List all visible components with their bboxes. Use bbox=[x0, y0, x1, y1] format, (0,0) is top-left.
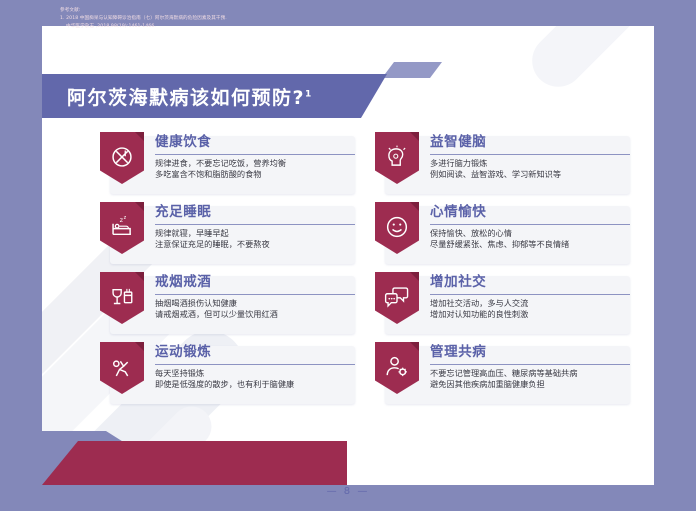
page-title-superscript: 1 bbox=[305, 89, 313, 99]
reference-heading: 参考文献: bbox=[60, 7, 227, 15]
prevention-card[interactable]: 运动锻炼 每天坚持锻炼 即使是低强度的散步，也有利于脑健康 bbox=[100, 340, 355, 408]
reference-line: 中华医学杂志 ,2018,98(19):1461-1466. bbox=[60, 23, 227, 31]
card-title: 健康饮食 bbox=[155, 135, 355, 155]
card-text: 管理共病 不要忘记管理高血压、糖尿病等基础共病 避免因其他疾病加重脑健康负担 bbox=[419, 340, 630, 391]
card-description-line: 每天坚持锻炼 bbox=[155, 368, 355, 380]
card-description-line: 多进行脑力锻炼 bbox=[430, 158, 630, 170]
card-description-line: 即使是低强度的散步，也有利于脑健康 bbox=[155, 379, 355, 391]
slide-page: 阿尔茨海默病该如何预防?1 健康饮食 规律进食，不要忘记吃饭，营养均衡 多吃富含… bbox=[0, 0, 696, 511]
page-title-label: 阿尔茨海默病该如何预防? bbox=[67, 87, 305, 109]
prevention-card[interactable]: 增加社交 增加社交活动，多与人交流 增加对认知功能的良性刺激 bbox=[375, 270, 630, 338]
page-number: — 8 — bbox=[0, 486, 696, 497]
card-description-line: 避免因其他疾病加重脑健康负担 bbox=[430, 379, 630, 391]
card-text: 运动锻炼 每天坚持锻炼 即使是低强度的散步，也有利于脑健康 bbox=[144, 340, 355, 391]
card-description: 每天坚持锻炼 即使是低强度的散步，也有利于脑健康 bbox=[155, 368, 355, 392]
reference-footer-text: 参考文献: 1. 2018 中国痴呆与认知障碍诊治指南（七）阿尔茨海默病的危险因… bbox=[60, 7, 227, 31]
card-text: 健康饮食 规律进食，不要忘记吃饭，营养均衡 多吃富含不饱和脂肪酸的食物 bbox=[144, 130, 355, 181]
decorative-bar bbox=[521, 26, 654, 98]
card-description: 规律进食，不要忘记吃饭，营养均衡 多吃富含不饱和脂肪酸的食物 bbox=[155, 158, 355, 182]
card-description-line: 抽烟喝酒损伤认知健康 bbox=[155, 298, 355, 310]
card-description-line: 增加对认知功能的良性刺激 bbox=[430, 309, 630, 321]
card-description-line: 增加社交活动，多与人交流 bbox=[430, 298, 630, 310]
card-text: 增加社交 增加社交活动，多与人交流 增加对认知功能的良性刺激 bbox=[419, 270, 630, 321]
card-text: 心情愉快 保持愉快、放松的心情 尽量舒缓紧张、焦虑、抑郁等不良情绪 bbox=[419, 200, 630, 251]
reference-footer-band bbox=[42, 441, 347, 485]
card-title: 益智健脑 bbox=[430, 135, 630, 155]
card-text: 益智健脑 多进行脑力锻炼 例如阅读、益智游戏、学习新知识等 bbox=[419, 130, 630, 181]
card-title: 心情愉快 bbox=[430, 205, 630, 225]
card-description: 多进行脑力锻炼 例如阅读、益智游戏、学习新知识等 bbox=[430, 158, 630, 182]
prevention-card[interactable]: 管理共病 不要忘记管理高血压、糖尿病等基础共病 避免因其他疾病加重脑健康负担 bbox=[375, 340, 630, 408]
prevention-card[interactable]: 健康饮食 规律进食，不要忘记吃饭，营养均衡 多吃富含不饱和脂肪酸的食物 bbox=[100, 130, 355, 198]
prevention-card[interactable]: 益智健脑 多进行脑力锻炼 例如阅读、益智游戏、学习新知识等 bbox=[375, 130, 630, 198]
card-description: 保持愉快、放松的心情 尽量舒缓紧张、焦虑、抑郁等不良情绪 bbox=[430, 228, 630, 252]
card-description-line: 保持愉快、放松的心情 bbox=[430, 228, 630, 240]
page-title: 阿尔茨海默病该如何预防?1 bbox=[67, 83, 313, 110]
reference-line: 1. 2018 中国痴呆与认知障碍诊治指南（七）阿尔茨海默病的危险因素及其干预. bbox=[60, 15, 227, 23]
card-description: 增加社交活动，多与人交流 增加对认知功能的良性刺激 bbox=[430, 298, 630, 322]
card-title: 戒烟戒酒 bbox=[155, 275, 355, 295]
card-description-line: 规律进食，不要忘记吃饭，营养均衡 bbox=[155, 158, 355, 170]
card-description-line: 请戒烟戒酒，但可以少量饮用红酒 bbox=[155, 309, 355, 321]
prevention-card[interactable]: z z 充足睡眠 规律就寝，早睡早起 注意保证充足的睡眠，不要熬夜 bbox=[100, 200, 355, 268]
card-text: 充足睡眠 规律就寝，早睡早起 注意保证充足的睡眠，不要熬夜 bbox=[144, 200, 355, 251]
card-description-line: 尽量舒缓紧张、焦虑、抑郁等不良情绪 bbox=[430, 239, 630, 251]
card-description-line: 规律就寝，早睡早起 bbox=[155, 228, 355, 240]
page-title-bar: 阿尔茨海默病该如何预防?1 bbox=[42, 74, 387, 118]
card-title: 增加社交 bbox=[430, 275, 630, 295]
card-description: 抽烟喝酒损伤认知健康 请戒烟戒酒，但可以少量饮用红酒 bbox=[155, 298, 355, 322]
card-description-line: 多吃富含不饱和脂肪酸的食物 bbox=[155, 169, 355, 181]
card-description: 不要忘记管理高血压、糖尿病等基础共病 避免因其他疾病加重脑健康负担 bbox=[430, 368, 630, 392]
card-description-line: 不要忘记管理高血压、糖尿病等基础共病 bbox=[430, 368, 630, 380]
card-description-line: 注意保证充足的睡眠，不要熬夜 bbox=[155, 239, 355, 251]
card-title: 充足睡眠 bbox=[155, 205, 355, 225]
prevention-card[interactable]: 心情愉快 保持愉快、放松的心情 尽量舒缓紧张、焦虑、抑郁等不良情绪 bbox=[375, 200, 630, 268]
prevention-card[interactable]: 戒烟戒酒 抽烟喝酒损伤认知健康 请戒烟戒酒，但可以少量饮用红酒 bbox=[100, 270, 355, 338]
card-title: 运动锻炼 bbox=[155, 345, 355, 365]
svg-text:z: z bbox=[124, 214, 127, 220]
card-description-line: 例如阅读、益智游戏、学习新知识等 bbox=[430, 169, 630, 181]
card-title: 管理共病 bbox=[430, 345, 630, 365]
prevention-cards-grid: 健康饮食 规律进食，不要忘记吃饭，营养均衡 多吃富含不饱和脂肪酸的食物 bbox=[100, 130, 630, 408]
card-text: 戒烟戒酒 抽烟喝酒损伤认知健康 请戒烟戒酒，但可以少量饮用红酒 bbox=[144, 270, 355, 321]
card-description: 规律就寝，早睡早起 注意保证充足的睡眠，不要熬夜 bbox=[155, 228, 355, 252]
